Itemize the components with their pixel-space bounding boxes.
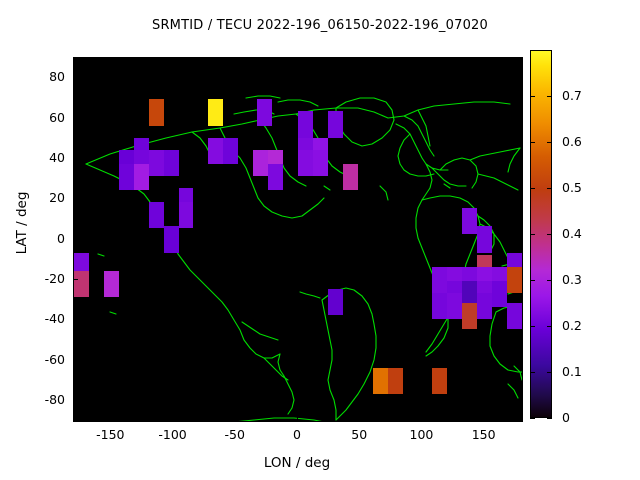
- figure-canvas: SRMTID / TECU 2022-196_06150-2022-196_07…: [0, 0, 640, 480]
- colorbar-tick-label: 0.1: [562, 364, 582, 379]
- x-tick-label: 150: [454, 427, 514, 442]
- colorbar-tick-label: 0.6: [562, 134, 582, 149]
- colorbar-tick-mark: [547, 326, 552, 327]
- x-tick-label: 100: [391, 427, 451, 442]
- heatmap-cell: [432, 267, 447, 293]
- heatmap-cell: [477, 293, 492, 319]
- colorbar-tick-mark: [530, 188, 535, 189]
- x-tick-mark: [421, 415, 422, 420]
- y-tick-mark: [73, 319, 78, 320]
- colorbar-tick-label: 0.5: [562, 180, 582, 195]
- heatmap-cell: [492, 281, 507, 307]
- heatmap-cell: [373, 368, 388, 394]
- x-tick-mark: [359, 415, 360, 420]
- heatmap-cell: [149, 202, 164, 228]
- heatmap-cell: [447, 293, 462, 319]
- x-tick-label: 0: [267, 427, 327, 442]
- colorbar-tick-mark: [547, 372, 552, 373]
- heatmap-cell: [208, 99, 223, 125]
- y-tick-mark: [73, 198, 78, 199]
- heatmap-cell: [507, 267, 522, 293]
- colorbar-tick-mark: [530, 418, 535, 419]
- colorbar-tick-label: 0.2: [562, 318, 582, 333]
- y-tick-label: -60: [7, 352, 65, 367]
- colorbar-tick-mark: [547, 280, 552, 281]
- y-tick-mark: [73, 360, 78, 361]
- x-tick-mark: [484, 415, 485, 420]
- x-tick-mark: [297, 415, 298, 420]
- y-tick-label: -40: [7, 311, 65, 326]
- heatmap-cell: [507, 303, 522, 329]
- heatmap-cell: [74, 271, 89, 297]
- colorbar-tick-mark: [530, 372, 535, 373]
- colorbar-tick-mark: [530, 96, 535, 97]
- colorbar-tick-mark: [547, 234, 552, 235]
- x-axis-label: LON / deg: [73, 455, 521, 471]
- colorbar-tick-label: 0.3: [562, 272, 582, 287]
- y-tick-mark: [73, 400, 78, 401]
- y-tick-label: 80: [7, 69, 65, 84]
- heatmap-plot-area[interactable]: [73, 57, 523, 422]
- heatmap-cell: [164, 226, 179, 252]
- x-tick-label: 50: [329, 427, 389, 442]
- colorbar-tick-label: 0: [562, 410, 570, 425]
- heatmap-cell: [462, 208, 477, 234]
- heatmap-cell: [268, 164, 283, 190]
- x-tick-label: -50: [205, 427, 265, 442]
- heatmap-cell: [432, 293, 447, 319]
- y-tick-label: -80: [7, 392, 65, 407]
- heatmap-cell: [257, 99, 272, 125]
- heatmap-cell: [328, 111, 343, 137]
- heatmap-cell: [432, 368, 447, 394]
- heatmap-cell: [477, 226, 492, 252]
- heatmap-cell: [462, 303, 477, 329]
- heatmap-cell: [253, 150, 268, 176]
- x-tick-mark: [235, 415, 236, 420]
- page-title: SRMTID / TECU 2022-196_06150-2022-196_07…: [0, 18, 640, 33]
- x-tick-mark: [173, 415, 174, 420]
- colorbar-tick-mark: [547, 142, 552, 143]
- heatmap-cell: [119, 164, 134, 190]
- colorbar-tick-mark: [530, 142, 535, 143]
- heatmap-cell: [388, 368, 403, 394]
- heatmap-cell: [298, 150, 313, 176]
- heatmap-cell: [298, 111, 313, 137]
- x-tick-label: -150: [80, 427, 140, 442]
- colorbar-tick-mark: [530, 326, 535, 327]
- heatmap-cell: [343, 164, 358, 190]
- colorbar-tick-label: 0.7: [562, 88, 582, 103]
- heatmap-cell: [149, 99, 164, 125]
- heatmap-cell: [328, 289, 343, 315]
- y-tick-mark: [73, 279, 78, 280]
- y-tick-mark: [73, 118, 78, 119]
- y-tick-mark: [73, 158, 78, 159]
- colorbar-tick-mark: [530, 280, 535, 281]
- heatmap-cell: [313, 150, 328, 176]
- x-tick-mark: [110, 415, 111, 420]
- y-tick-mark: [73, 77, 78, 78]
- colorbar[interactable]: 00.10.20.30.40.50.60.7: [530, 50, 552, 418]
- y-tick-label: 60: [7, 110, 65, 125]
- heatmap-cell: [179, 202, 194, 228]
- colorbar-tick-mark: [547, 188, 552, 189]
- heatmap-cell: [134, 164, 149, 190]
- heatmap-cell: [104, 271, 119, 297]
- heatmap-cell: [208, 138, 223, 164]
- x-tick-label: -100: [143, 427, 203, 442]
- heatmap-cell: [164, 150, 179, 176]
- y-tick-mark: [73, 239, 78, 240]
- colorbar-tick-label: 0.4: [562, 226, 582, 241]
- colorbar-tick-mark: [530, 234, 535, 235]
- y-axis-label: LAT / deg: [14, 153, 30, 293]
- heatmap-cell: [223, 138, 238, 164]
- colorbar-tick-mark: [547, 96, 552, 97]
- colorbar-tick-mark: [547, 418, 552, 419]
- heatmap-cell: [149, 150, 164, 176]
